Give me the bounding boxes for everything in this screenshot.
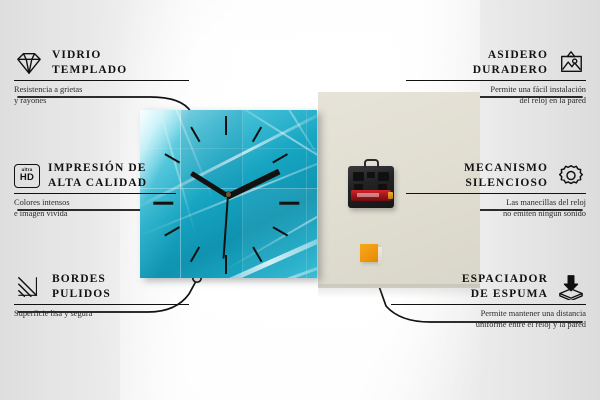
picture-hanger-icon	[556, 50, 586, 76]
clock-tick	[225, 116, 227, 135]
clock-mechanism	[348, 166, 394, 208]
glass-tint-block	[181, 110, 243, 188]
callout-mecanismo-silencioso: MECANISMO SILENCIOSO Las manecillas del …	[406, 161, 586, 219]
clock-tick	[225, 255, 227, 274]
callout-title-line2: SILENCIOSO	[464, 176, 548, 191]
clock-center-hub	[226, 192, 231, 197]
diagonal-lines-icon	[14, 274, 44, 300]
mechanism-battery	[351, 190, 391, 201]
callout-divider	[391, 304, 586, 305]
callout-vidrio-templado: VIDRIO TEMPLADO Resistencia a grietas y …	[14, 48, 189, 106]
callout-desc-line2: uniforme entre el reloj y la pared	[391, 320, 586, 331]
callout-title-line1: IMPRESIÓN DE	[48, 161, 147, 176]
callout-divider	[406, 193, 586, 194]
callout-title-line2: DURADERO	[473, 63, 548, 78]
callout-desc-line2: del reloj en la pared	[406, 96, 586, 107]
down-arrow-pad-icon	[556, 274, 586, 300]
callout-title-line1: BORDES	[52, 272, 111, 287]
diamond-icon	[14, 50, 44, 76]
callout-title-line2: PULIDOS	[52, 287, 111, 302]
callout-impresion-alta-calidad: ultra HD IMPRESIÓN DE ALTA CALIDAD Color…	[14, 161, 176, 219]
callout-desc-line1: Permite una fácil instalación	[406, 85, 586, 96]
callout-desc-line2: no emiten ningún sonido	[406, 209, 586, 220]
callout-title-line2: ALTA CALIDAD	[48, 176, 147, 191]
callout-divider	[14, 304, 189, 305]
callout-divider	[14, 193, 176, 194]
foam-spacer-part	[360, 244, 378, 262]
callout-title-line1: ASIDERO	[473, 48, 548, 63]
callout-divider	[406, 80, 586, 81]
callout-desc-line1: Permite mantener una distancia	[391, 309, 586, 320]
ultra-hd-icon: ultra HD	[14, 164, 40, 188]
callout-title-line2: TEMPLADO	[52, 63, 127, 78]
gear-icon	[556, 163, 586, 189]
callout-desc-line1: Resistencia a grietas	[14, 85, 189, 96]
glass-reflection-vertical	[180, 110, 181, 278]
mechanism-hanger-lug	[364, 159, 379, 168]
callout-title-line1: ESPACIADOR	[462, 272, 548, 287]
infographic-canvas: VIDRIO TEMPLADO Resistencia a grietas y …	[0, 0, 600, 400]
callout-desc-line2: y rayones	[14, 96, 189, 107]
callout-title-line2: DE ESPUMA	[462, 287, 548, 302]
clock-tick	[279, 202, 299, 205]
callout-desc-line1: Las manecillas del reloj	[406, 198, 586, 209]
callout-bordes-pulidos: BORDES PULIDOS Superficie lisa y segura	[14, 272, 189, 320]
callout-desc-line2: e imagen vívida	[14, 209, 176, 220]
callout-desc-line1: Colores intensos	[14, 198, 176, 209]
callout-desc-line1: Superficie lisa y segura	[14, 309, 189, 320]
callout-espaciador-de-espuma: ESPACIADOR DE ESPUMA Permite mantener un…	[391, 272, 586, 330]
callout-divider	[14, 80, 189, 81]
callout-asidero-duradero: ASIDERO DURADERO Permite una fácil insta…	[406, 48, 586, 106]
ultra-hd-icon-main-text: HD	[20, 173, 34, 183]
callout-title-line1: MECANISMO	[464, 161, 548, 176]
callout-title-line1: VIDRIO	[52, 48, 127, 63]
